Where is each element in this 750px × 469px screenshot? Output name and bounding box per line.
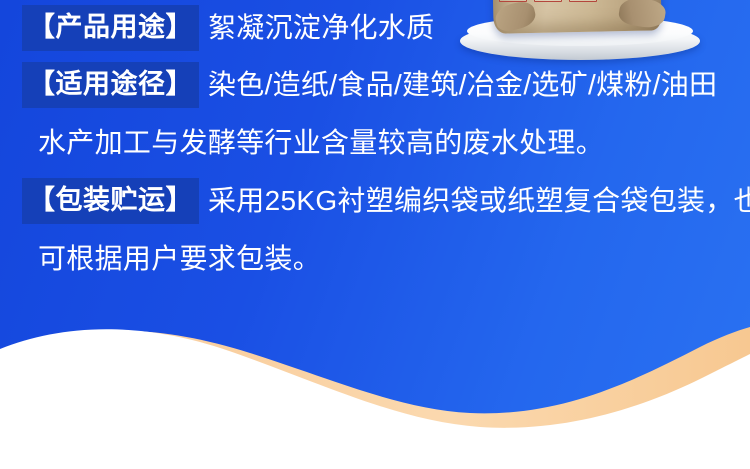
section-text-application-scope-line2: 水产加工与发酵等行业含量较高的废水处理。 (22, 129, 604, 157)
section-text-application-scope: 染色/造纸/食品/建筑/冶金/选矿/煤粉/油田 (208, 71, 717, 99)
section-application-scope-continued: 水产加工与发酵等行业含量较高的废水处理。 (0, 114, 750, 172)
section-tag-application-scope: 【适用途径】 (22, 62, 199, 108)
section-packaging-storage: 【包装贮运】 采用25KG衬塑编织袋或纸塑复合袋包装，也 (0, 172, 750, 230)
section-packaging-storage-continued: 可根据用户要求包装。 (0, 230, 750, 288)
section-application-scope: 【适用途径】 染色/造纸/食品/建筑/冶金/选矿/煤粉/油田 (0, 56, 750, 114)
section-product-use: 【产品用途】 絮凝沉淀净化水质 (0, 0, 750, 56)
section-text-product-use: 絮凝沉淀净化水质 (208, 14, 434, 42)
section-tag-packaging-storage: 【包装贮运】 (22, 178, 199, 224)
decorative-wave-graphic (0, 309, 750, 469)
section-text-packaging-storage: 采用25KG衬塑编织袋或纸塑复合袋包装，也 (208, 187, 750, 215)
product-info-poster: 【产品用途】 絮凝沉淀净化水质 【适用途径】 染色/造纸/食品/建筑/冶金/选矿… (0, 0, 750, 469)
section-tag-product-use: 【产品用途】 (22, 5, 199, 51)
section-text-packaging-storage-line2: 可根据用户要求包装。 (22, 245, 321, 273)
info-text-block: 【产品用途】 絮凝沉淀净化水质 【适用途径】 染色/造纸/食品/建筑/冶金/选矿… (0, 0, 750, 288)
